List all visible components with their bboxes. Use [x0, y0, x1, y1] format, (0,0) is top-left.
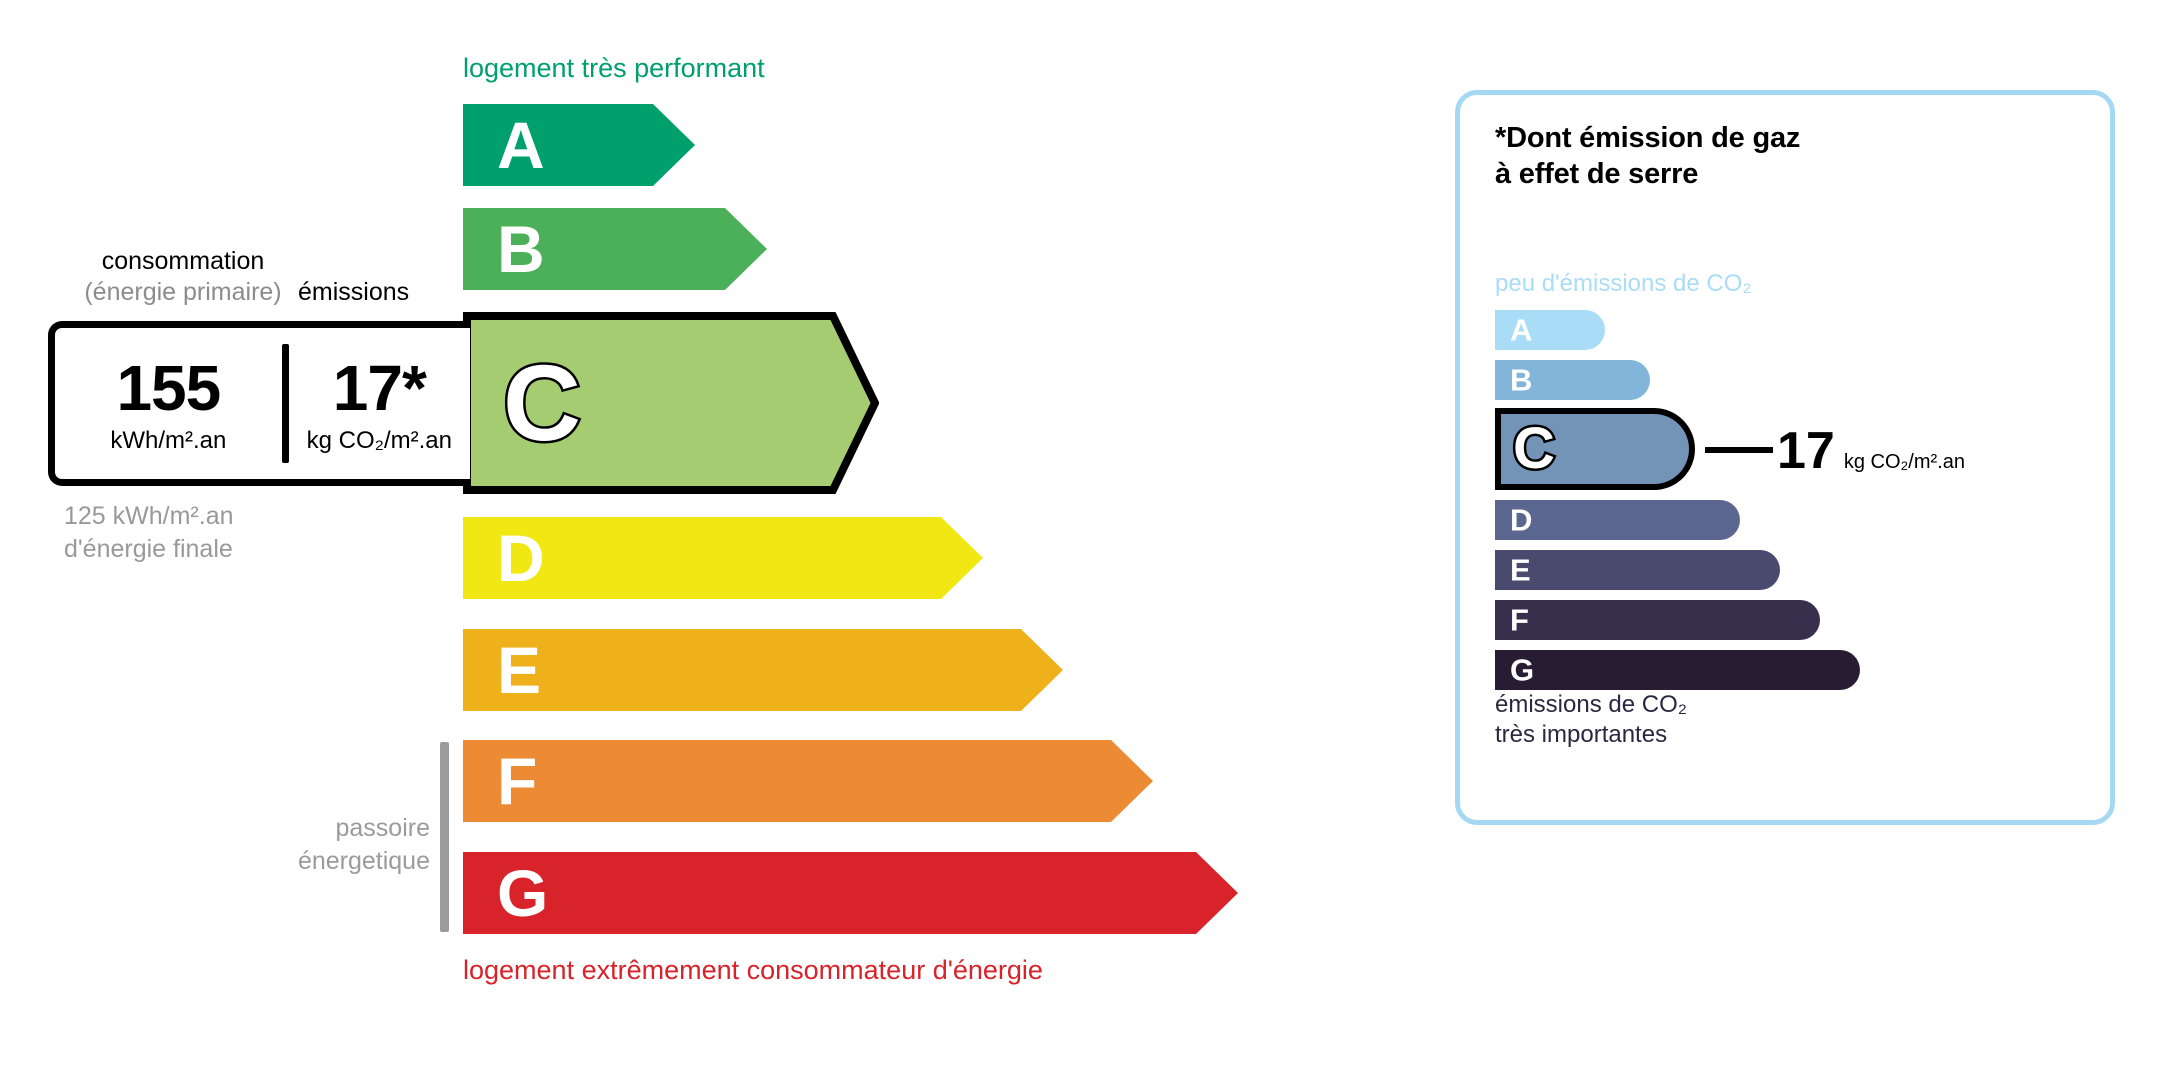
consumption-readout-cell: 155 kWh/m².an	[55, 328, 282, 479]
energy-class-row-e[interactable]: E	[463, 629, 1063, 711]
co2-class-row-f[interactable]: F	[1495, 600, 1820, 640]
co2-callout-unit: kg CO₂/m².an	[1844, 451, 1965, 474]
energy-scale-top-caption: logement très performant	[463, 53, 765, 84]
co2-emissions-panel: *Dont émission de gaz à effet de serre p…	[1455, 90, 2115, 825]
co2-class-letter-g: G	[1510, 655, 1534, 686]
co2-class-row-d[interactable]: D	[1495, 500, 1740, 540]
energy-readout-box: 155 kWh/m².an 17* kg CO₂/m².an	[48, 321, 470, 486]
arrow-shape-d	[463, 517, 983, 599]
co2-bar-f	[1495, 600, 1820, 640]
co2-scale-top-caption: peu d'émissions de CO₂	[1495, 270, 1752, 298]
energy-class-row-a[interactable]: A	[463, 104, 695, 186]
co2-class-row-g[interactable]: G	[1495, 650, 1860, 690]
energy-performance-diagram: logement très performant consommation (é…	[0, 0, 1400, 1079]
co2-title-line-1: *Dont émission de gaz	[1495, 120, 1800, 156]
energy-class-row-d[interactable]: D	[463, 517, 983, 599]
final-energy-value: 125 kWh/m².an	[64, 500, 234, 533]
arrow-shape-e	[463, 629, 1063, 711]
emissions-unit: kg CO₂/m².an	[307, 427, 452, 455]
emissions-readout-cell: 17* kg CO₂/m².an	[289, 328, 470, 479]
emissions-header-label: émissions	[298, 278, 478, 307]
energy-class-row-f[interactable]: F	[463, 740, 1153, 822]
consumption-header-label: consommation	[102, 247, 265, 275]
co2-bottom-caption-line-1: émissions de CO₂	[1495, 690, 1687, 720]
final-energy-label: d'énergie finale	[64, 533, 234, 566]
co2-bottom-caption-line-2: très importantes	[1495, 720, 1687, 750]
co2-class-letter-b: B	[1510, 365, 1532, 396]
consumption-header: consommation (énergie primaire)	[68, 246, 298, 309]
co2-class-letter-a: A	[1510, 315, 1532, 346]
passoire-line-2: énergetique	[240, 845, 430, 878]
energy-scale-bottom-caption: logement extrêmement consommateur d'éner…	[463, 955, 1043, 986]
co2-class-row-b[interactable]: B	[1495, 360, 1650, 400]
energy-class-row-c[interactable]: C	[463, 312, 879, 494]
arrow-shape-f	[463, 740, 1153, 822]
co2-class-letter-c: C	[1513, 420, 1555, 478]
co2-class-row-c[interactable]: C	[1495, 408, 1695, 490]
co2-panel-title: *Dont émission de gaz à effet de serre	[1495, 120, 1800, 193]
energy-class-row-g[interactable]: G	[463, 852, 1238, 934]
co2-class-letter-f: F	[1510, 605, 1529, 636]
arrow-shape-a	[463, 104, 695, 186]
energy-class-row-b[interactable]: B	[463, 208, 767, 290]
co2-class-row-e[interactable]: E	[1495, 550, 1780, 590]
arrow-shape-c	[463, 312, 879, 494]
passoire-energetique-label: passoire énergetique	[240, 812, 430, 877]
emissions-value: 17*	[333, 358, 426, 419]
consumption-header-sublabel: (énergie primaire)	[68, 277, 298, 308]
arrow-shape-g	[463, 852, 1238, 934]
co2-class-letter-d: D	[1510, 505, 1532, 536]
co2-callout-value: 17	[1777, 425, 1835, 477]
passoire-energetique-bracket	[440, 742, 449, 932]
co2-value-callout: 17 kg CO₂/m².an	[1705, 425, 1965, 475]
passoire-line-1: passoire	[240, 812, 430, 845]
co2-class-row-a[interactable]: A	[1495, 310, 1605, 350]
consumption-unit: kWh/m².an	[110, 427, 226, 455]
arrow-shape-b	[463, 208, 767, 290]
callout-leader-line	[1705, 447, 1773, 453]
final-energy-note: 125 kWh/m².an d'énergie finale	[64, 500, 234, 565]
co2-scale-bottom-caption: émissions de CO₂ très importantes	[1495, 690, 1687, 750]
readout-headers: consommation (énergie primaire) émission…	[48, 246, 478, 314]
consumption-value: 155	[116, 358, 220, 419]
co2-bar-g	[1495, 650, 1860, 690]
co2-bar-e	[1495, 550, 1780, 590]
co2-class-letter-e: E	[1510, 555, 1531, 586]
co2-title-line-2: à effet de serre	[1495, 156, 1800, 192]
readout-divider	[282, 344, 289, 463]
